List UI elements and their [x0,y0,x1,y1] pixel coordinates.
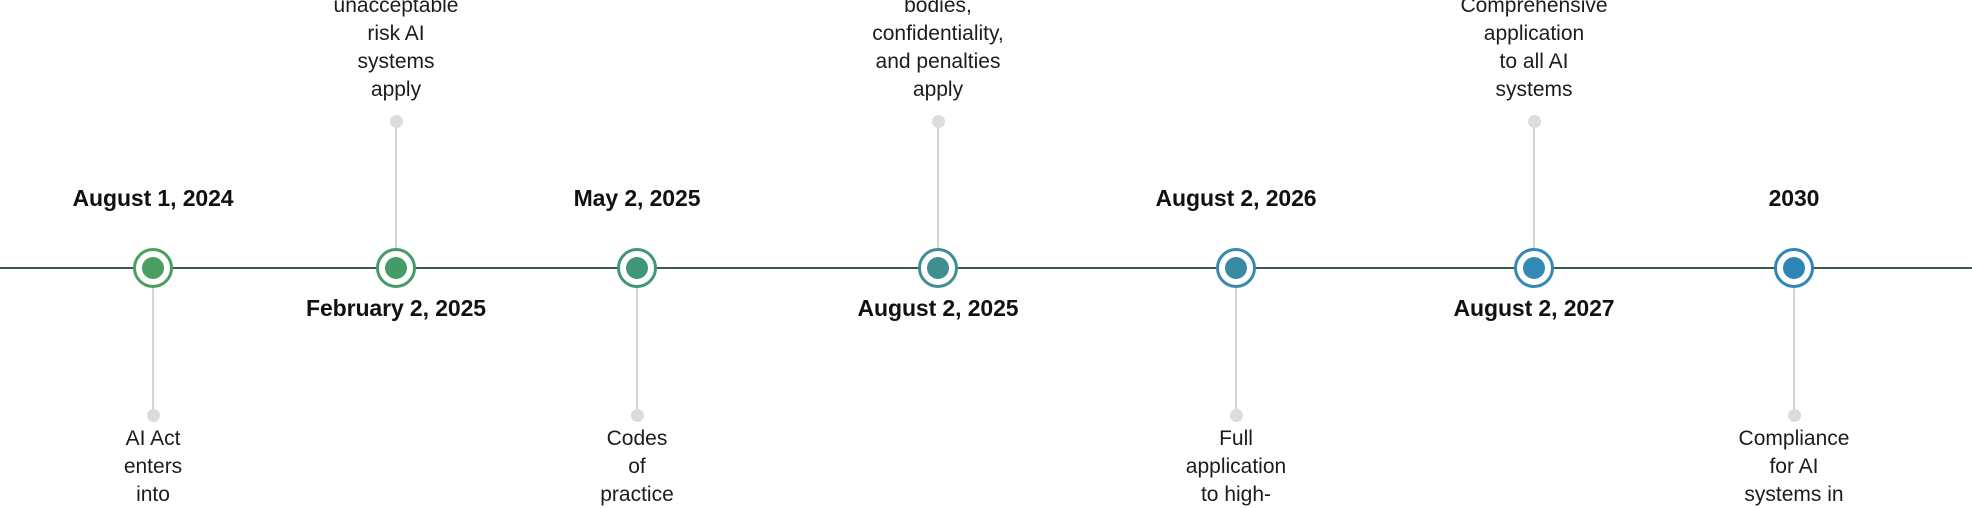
connector-dot-icon [631,409,644,422]
connector-stem [937,121,939,248]
connector-dot-icon [1528,115,1541,128]
connector-stem [1793,288,1795,415]
milestone-date: August 2, 2025 [858,295,1019,322]
description-line: to all AI systems [1460,48,1607,104]
timeline-axis [0,267,1972,269]
timeline-marker-icon[interactable] [617,248,657,288]
milestone-date: 2030 [1769,185,1820,212]
description-line: Full application to high-risk [1186,425,1286,508]
milestone-description: Full application to high-riskAI systems [1186,425,1286,508]
milestone-date: May 2, 2025 [574,185,701,212]
milestone-description: Compliance for AI systems inlarge-scale … [1733,425,1856,508]
milestone-description: Prohibitions on unacceptablerisk AI syst… [334,0,459,104]
marker-core-icon [142,257,164,279]
timeline-marker-icon[interactable] [1216,248,1256,288]
marker-core-icon [626,257,648,279]
timeline-infographic: August 1, 2024AI Act enters into forceFe… [0,0,1972,508]
connector-stem [152,288,154,415]
description-line: AI Act enters into force [124,425,182,508]
connector-dot-icon [390,115,403,128]
marker-core-icon [1523,257,1545,279]
connector-dot-icon [932,115,945,128]
timeline-marker-icon[interactable] [918,248,958,288]
milestone-description: Comprehensive applicationto all AI syste… [1460,0,1607,104]
marker-core-icon [385,257,407,279]
connector-stem [636,288,638,415]
timeline-marker-icon[interactable] [1514,248,1554,288]
description-line: Prohibitions on unacceptable [334,0,459,20]
milestone-description: General Purpose AI Governanceobligations… [872,0,1004,104]
timeline-marker-icon[interactable] [133,248,173,288]
connector-stem [1533,121,1535,248]
marker-core-icon [1225,257,1247,279]
connector-stem [395,121,397,248]
milestone-description: Codes of practice for GPAImodels finaliz… [598,425,675,508]
description-line: bodies, confidentiality, and penalties a… [872,0,1004,104]
description-line: Comprehensive application [1460,0,1607,48]
description-line: Codes of practice for GPAI [598,425,675,508]
description-line: risk AI systems apply [334,20,459,104]
connector-dot-icon [1230,409,1243,422]
connector-stem [1235,288,1237,415]
marker-core-icon [1783,257,1805,279]
connector-dot-icon [1788,409,1801,422]
marker-core-icon [927,257,949,279]
milestone-date: February 2, 2025 [306,295,486,322]
milestone-description: AI Act enters into force [124,425,182,508]
milestone-date: August 2, 2027 [1454,295,1615,322]
milestone-date: August 2, 2026 [1156,185,1317,212]
description-line: Compliance for AI systems in [1733,425,1856,508]
connector-dot-icon [147,409,160,422]
timeline-marker-icon[interactable] [1774,248,1814,288]
timeline-marker-icon[interactable] [376,248,416,288]
milestone-date: August 1, 2024 [73,185,234,212]
